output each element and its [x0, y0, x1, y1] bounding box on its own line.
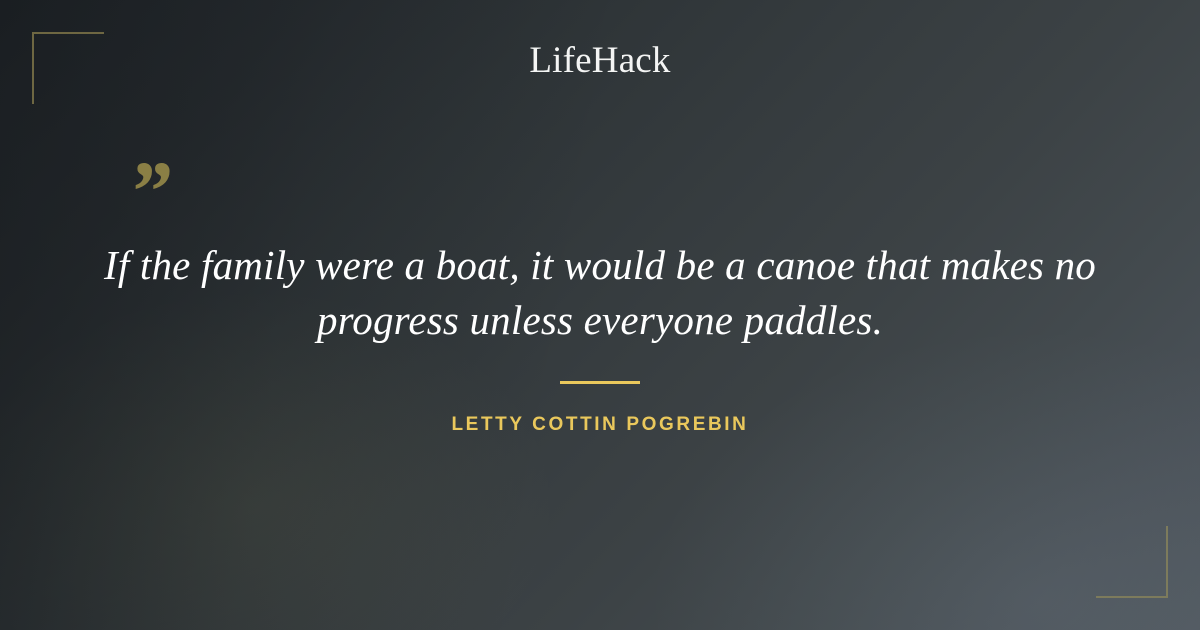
author-divider	[560, 381, 640, 384]
brand-logo[interactable]: LifeHack	[0, 42, 1200, 79]
quote-line-1: If the family were a boat, it would be a…	[95, 238, 1105, 293]
quote-author: LETTY COTTIN POGREBIN	[0, 414, 1200, 436]
quote-card: LifeHack ” If the family were a boat, it…	[0, 0, 1200, 630]
corner-bracket-bottom-right	[1096, 526, 1168, 598]
quote-line-2: progress unless everyone paddles.	[95, 293, 1105, 348]
quotation-mark-icon: ”	[128, 148, 171, 234]
quote-block: If the family were a boat, it would be a…	[95, 238, 1105, 348]
